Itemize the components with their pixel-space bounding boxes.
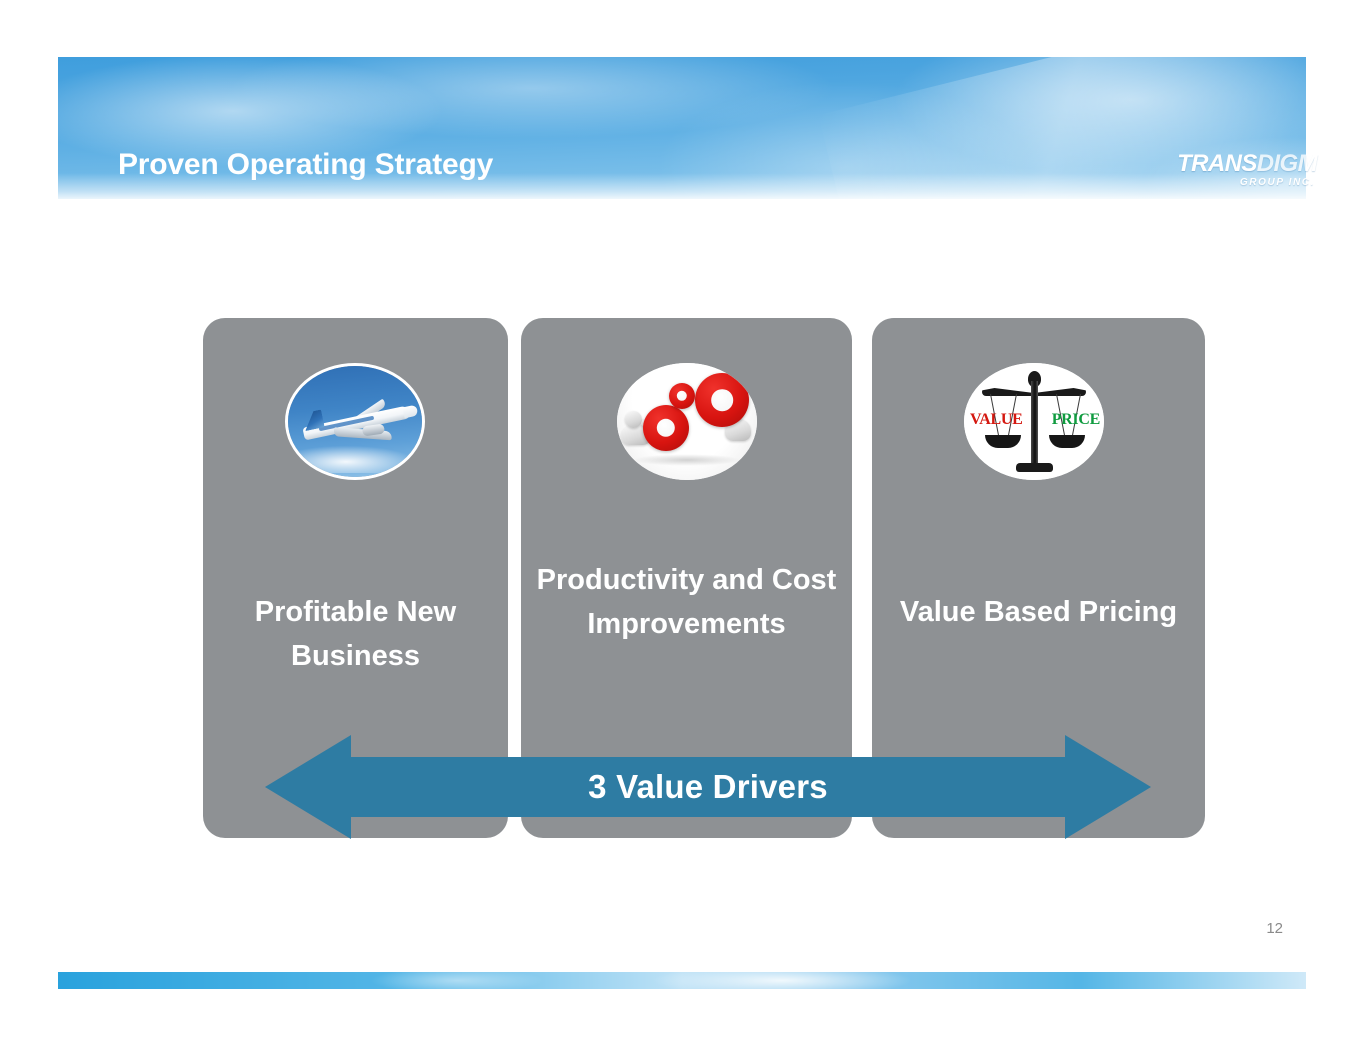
page-number: 12 bbox=[1266, 920, 1283, 937]
logo-wordmark-part-a: TRANS bbox=[1177, 150, 1257, 177]
card-label: Profitable New Business bbox=[211, 590, 500, 678]
gear-medium bbox=[643, 405, 689, 451]
transdigm-logo: TRANSDIGM GROUP INC. bbox=[1177, 152, 1317, 188]
scale-post bbox=[1031, 381, 1038, 469]
logo-subtitle: GROUP INC. bbox=[1177, 178, 1315, 188]
gears-icon bbox=[617, 363, 757, 480]
card-label: Productivity and Cost Improvements bbox=[529, 558, 844, 646]
airplane-icon bbox=[285, 363, 425, 480]
card-label: Value Based Pricing bbox=[880, 590, 1197, 634]
footer-accent-bar bbox=[58, 972, 1306, 989]
page-title: Proven Operating Strategy bbox=[118, 148, 493, 182]
logo-wordmark-part-b: DIGM bbox=[1257, 150, 1317, 177]
double-arrow-shape bbox=[265, 735, 1151, 839]
gear-large bbox=[695, 373, 749, 427]
value-drivers-arrow-banner: 3 Value Drivers bbox=[265, 735, 1151, 839]
scale-label-price: PRICE bbox=[1052, 412, 1100, 428]
balance-scale-icon: VALUE PRICE bbox=[964, 363, 1104, 480]
logo-wordmark: TRANSDIGM bbox=[1177, 152, 1317, 176]
gear-small bbox=[669, 383, 695, 409]
scale-base bbox=[1016, 463, 1053, 472]
figure-shadow bbox=[633, 454, 741, 466]
figure-left-head bbox=[625, 411, 642, 428]
slide: Proven Operating Strategy TRANSDIGM GROU… bbox=[0, 0, 1365, 1055]
scale-label-value: VALUE bbox=[970, 412, 1022, 428]
